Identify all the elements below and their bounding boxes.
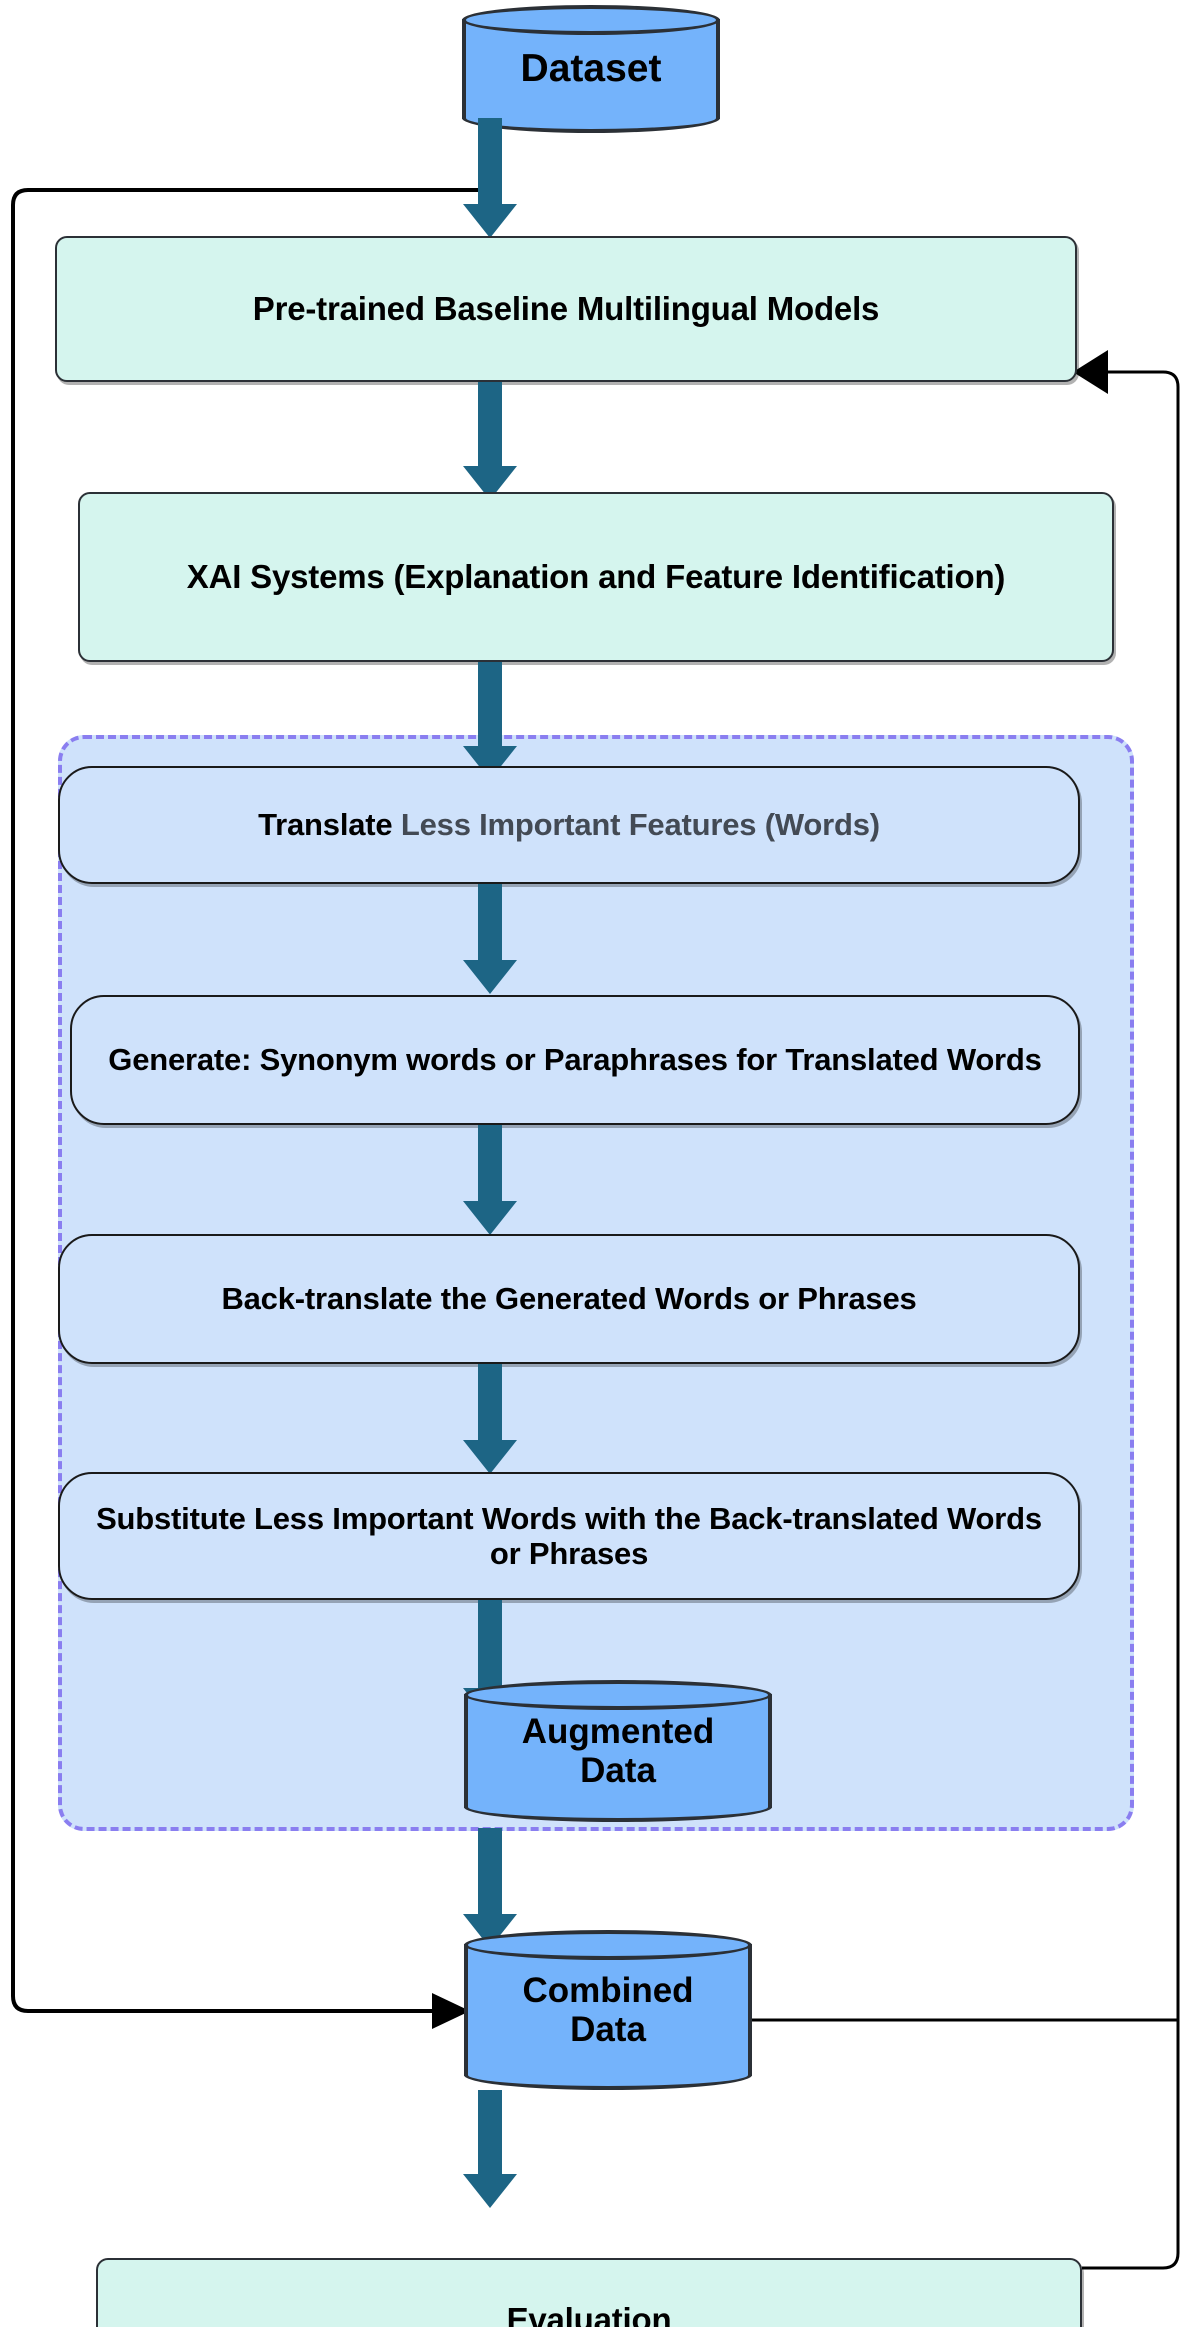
node-translate-label: Translate Less Important Features (Words… [258,807,880,842]
arrow-head [463,2174,517,2208]
node-translate-label-strong: Translate [258,807,392,842]
edge-evaluation-to-baseline-models-arrowhead [1073,350,1108,394]
arrow-shaft [478,382,502,468]
arrow-shaft [478,1600,502,1690]
arrow-dataset-to-baseline [459,118,521,238]
node-translate-less-important-features[interactable]: Translate Less Important Features (Words… [58,766,1080,884]
node-dataset[interactable]: Dataset [462,5,720,133]
arrow-backtranslate-to-substitute [459,1364,521,1474]
arrow-head [463,1440,517,1474]
node-augmented-data[interactable]: Augmented Data [464,1680,772,1822]
node-augmented-data-label: Augmented Data [464,1680,772,1822]
node-back-translate-label: Back-translate the Generated Words or Ph… [221,1281,916,1316]
arrow-shaft [478,1364,502,1442]
node-pretrained-baseline-models-label: Pre-trained Baseline Multilingual Models [253,290,879,328]
node-xai-systems-label: XAI Systems (Explanation and Feature Ide… [187,558,1005,596]
arrow-head [463,1201,517,1235]
arrow-baseline-to-xai [459,382,521,500]
arrow-shaft [478,1125,502,1203]
node-xai-systems[interactable]: XAI Systems (Explanation and Feature Ide… [78,492,1114,662]
node-generate-label: Generate: Synonym words or Paraphrases f… [108,1042,1041,1077]
node-pretrained-baseline-models[interactable]: Pre-trained Baseline Multilingual Models [55,236,1077,382]
arrow-generate-to-backtranslate [459,1125,521,1235]
arrow-head [463,204,517,238]
arrow-shaft [478,1828,502,1916]
arrow-xai-to-translate [459,662,521,780]
node-dataset-label: Dataset [462,5,720,133]
arrow-head [463,960,517,994]
node-generate-synonyms[interactable]: Generate: Synonym words or Paraphrases f… [70,995,1080,1125]
node-substitute-words[interactable]: Substitute Less Important Words with the… [58,1472,1080,1600]
arrow-combined-to-evaluation [459,2090,521,2208]
flowchart-canvas: Dataset Pre-trained Baseline Multilingua… [0,0,1191,2327]
node-back-translate[interactable]: Back-translate the Generated Words or Ph… [58,1234,1080,1364]
node-combined-data-label: Combined Data [464,1930,752,2090]
arrow-shaft [478,662,502,748]
node-translate-label-muted: Less Important Features (Words) [401,807,880,842]
node-evaluation-label: Evaluation [507,2301,672,2327]
node-evaluation[interactable]: Evaluation [96,2258,1082,2327]
node-combined-data[interactable]: Combined Data [464,1930,752,2090]
arrow-shaft [478,2090,502,2176]
node-substitute-label: Substitute Less Important Words with the… [86,1501,1052,1572]
arrow-translate-to-generate [459,884,521,994]
arrow-shaft [478,884,502,962]
